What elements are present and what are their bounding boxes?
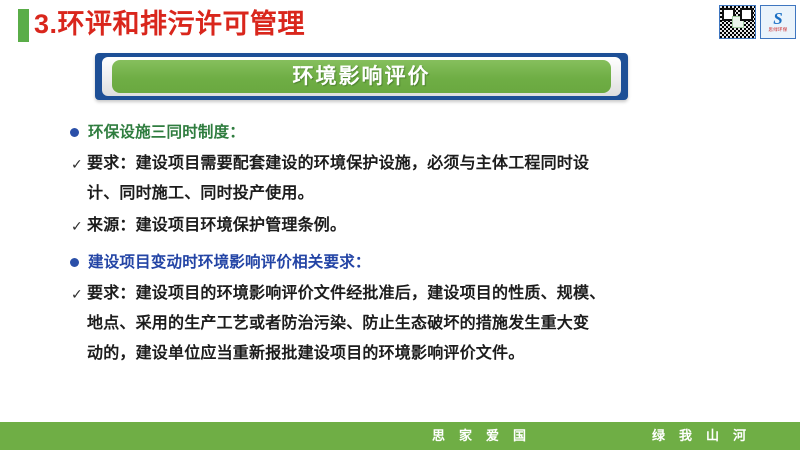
check-item: ✓要求：建设项目的环境影响评价文件经批准后，建设项目的性质、规模、地点、采用的生… [70,279,790,369]
check-item-text: 来源：建设项目环境保护管理条例。 [87,211,790,241]
check-item: ✓来源：建设项目环境保护管理条例。 [70,211,790,241]
text-line: 要求：建设项目需要配套建设的环境保护设施，必须与主体工程同时设 [87,149,790,179]
qr-code-center [732,16,744,28]
bullet-heading-text: 环保设施三同时制度： [88,120,245,145]
text-line: 要求：建设项目的环境影响评价文件经批准后，建设项目的性质、规模、 [87,279,790,309]
text-line: 来源：建设项目环境保护管理条例。 [87,211,790,241]
title-row: 3.环评和排污许可管理 [0,0,800,46]
bullet-block: 建设项目变动时环境影响评价相关要求：✓要求：建设项目的环境影响评价文件经批准后，… [70,250,790,369]
bullet-block: 环保设施三同时制度：✓要求：建设项目需要配套建设的环境保护设施，必须与主体工程同… [70,120,790,241]
check-mark-icon: ✓ [71,149,87,179]
page-title: 3.环评和排污许可管理 [34,6,305,42]
check-mark-icon: ✓ [71,211,87,241]
check-item: ✓要求：建设项目需要配套建设的环境保护设施，必须与主体工程同时设计、同时施工、同… [70,149,790,209]
section-banner-title: 环境影响评价 [293,64,431,90]
section-banner-inner-frame: 环境影响评价 [102,57,621,96]
section-banner: 环境影响评价 [95,53,628,100]
bullet-dot-icon [70,258,79,267]
footer-bar: 思家爱国 绿我山河 [0,422,800,450]
bullet-heading: 环保设施三同时制度： [70,120,790,145]
brand-mark-icon: S [773,11,782,27]
content-body: 环保设施三同时制度：✓要求：建设项目需要配套建设的环境保护设施，必须与主体工程同… [70,120,790,371]
qr-code-icon [719,5,756,39]
text-line: 计、同时施工、同时投产使用。 [87,179,790,209]
footer-slogan-right: 绿我山河 [652,427,760,445]
brand-name-label: 思绿环保 [768,27,787,33]
footer-slogan-left: 思家爱国 [432,427,540,445]
check-item-text: 要求：建设项目需要配套建设的环境保护设施，必须与主体工程同时设计、同时施工、同时… [87,149,790,209]
bullet-heading-text: 建设项目变动时环境影响评价相关要求： [88,250,371,275]
check-item-text: 要求：建设项目的环境影响评价文件经批准后，建设项目的性质、规模、地点、采用的生产… [87,279,790,369]
title-accent-bar [18,9,29,42]
bullet-heading: 建设项目变动时环境影响评价相关要求： [70,250,790,275]
slide-canvas: 3.环评和排污许可管理 S 思绿环保 环境影响评价 环保设施三同时制度：✓要求：… [0,0,800,450]
brand-logo: S 思绿环保 [760,5,796,39]
check-mark-icon: ✓ [71,279,87,309]
section-banner-pill: 环境影响评价 [112,60,611,93]
bullet-dot-icon [70,128,79,137]
text-line: 动的，建设单位应当重新报批建设项目的环境影响评价文件。 [87,339,790,369]
logo-group: S 思绿环保 [719,3,796,41]
text-line: 地点、采用的生产工艺或者防治污染、防止生态破坏的措施发生重大变 [87,309,790,339]
